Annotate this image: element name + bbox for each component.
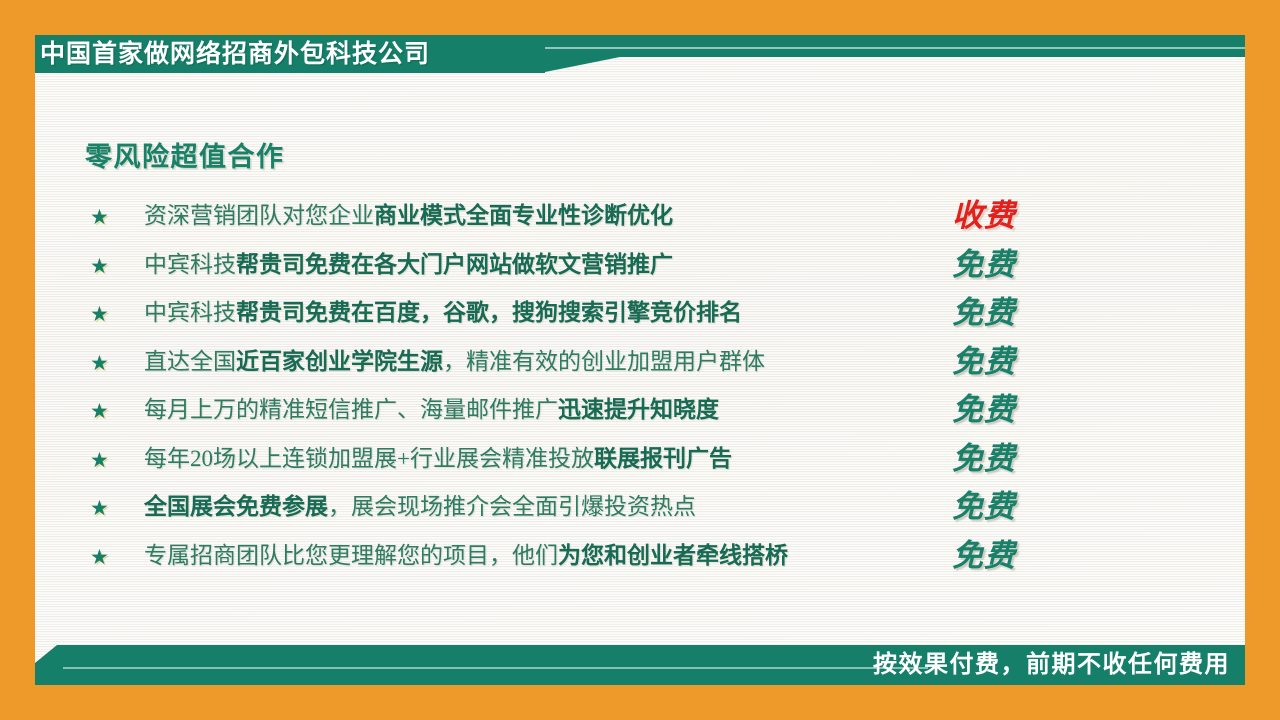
benefit-text-highlight: 近百家创业学院生源 — [236, 349, 443, 374]
benefit-text: 每年20场以上连锁加盟展+行业展会精准投放联展报刊广告 — [144, 442, 732, 476]
star-icon: ★ — [90, 351, 109, 377]
footer-text: 按效果付费，前期不收任何费用 — [873, 650, 1230, 680]
star-icon: ★ — [90, 496, 109, 522]
benefit-text: 全国展会免费参展，展会现场推介会全面引爆投资热点 — [144, 490, 696, 524]
star-icon: ★ — [90, 205, 109, 231]
star-icon: ★ — [90, 399, 109, 425]
benefit-text: 直达全国近百家创业学院生源，精准有效的创业加盟用户群体 — [144, 345, 765, 379]
benefit-text-plain: 每年20场以上连锁加盟展+行业展会精准投放 — [144, 446, 594, 471]
benefit-text-plain-tail: ，展会现场推介会全面引爆投资热点 — [328, 494, 696, 519]
benefit-row: ★直达全国近百家创业学院生源，精准有效的创业加盟用户群体免费 — [90, 343, 1090, 392]
fee-badge: 收费 — [952, 193, 1082, 239]
star-icon: ★ — [90, 448, 109, 474]
benefit-text-plain: 每月上万的精准短信推广、海量邮件推广 — [144, 397, 558, 422]
header-title: 中国首家做网络招商外包科技公司 — [40, 39, 430, 69]
benefit-row: ★每月上万的精准短信推广、海量邮件推广迅速提升知晓度免费 — [90, 391, 1090, 440]
benefit-row: ★全国展会免费参展，展会现场推介会全面引爆投资热点免费 — [90, 488, 1090, 537]
benefit-text: 资深营销团队对您企业商业模式全面专业性诊断优化 — [144, 199, 673, 233]
fee-badge: 免费 — [952, 533, 1082, 579]
benefit-text-highlight: 全国展会免费参展 — [144, 494, 328, 519]
fee-badge: 免费 — [952, 387, 1082, 433]
benefit-text-plain: 中宾科技 — [144, 300, 236, 325]
fee-badge: 免费 — [952, 242, 1082, 288]
slide-canvas: 中国首家做网络招商外包科技公司 零风险超值合作 ★资深营销团队对您企业商业模式全… — [0, 0, 1280, 720]
benefit-text-highlight: 帮贵司免费在百度，谷歌，搜狗搜索引擎竞价排名 — [236, 300, 742, 325]
benefit-text-plain-tail: ，精准有效的创业加盟用户群体 — [443, 349, 765, 374]
fee-badge: 免费 — [952, 484, 1082, 530]
benefit-text-highlight: 为您和创业者牵线搭桥 — [558, 543, 788, 568]
benefit-text: 专属招商团队比您更理解您的项目，他们为您和创业者牵线搭桥 — [144, 539, 788, 573]
benefit-text: 每月上万的精准短信推广、海量邮件推广迅速提升知晓度 — [144, 393, 719, 427]
fee-badge: 免费 — [952, 436, 1082, 482]
benefit-text-highlight: 商业模式全面专业性诊断优化 — [374, 203, 673, 228]
star-icon: ★ — [90, 254, 109, 280]
benefit-row: ★资深营销团队对您企业商业模式全面专业性诊断优化收费 — [90, 197, 1090, 246]
benefit-text-highlight: 迅速提升知晓度 — [558, 397, 719, 422]
benefit-text-plain: 专属招商团队比您更理解您的项目，他们 — [144, 543, 558, 568]
benefit-list: ★资深营销团队对您企业商业模式全面专业性诊断优化收费★中宾科技帮贵司免费在各大门… — [90, 197, 1090, 585]
star-icon: ★ — [90, 545, 109, 571]
benefit-text-plain: 中宾科技 — [144, 252, 236, 277]
benefit-text-plain: 资深营销团队对您企业 — [144, 203, 374, 228]
star-icon: ★ — [90, 302, 109, 328]
benefit-row: ★中宾科技帮贵司免费在各大门户网站做软文营销推广免费 — [90, 246, 1090, 295]
section-title: 零风险超值合作 — [85, 135, 285, 174]
benefit-text-highlight: 帮贵司免费在各大门户网站做软文营销推广 — [236, 252, 673, 277]
fee-badge: 免费 — [952, 339, 1082, 385]
fee-badge: 免费 — [952, 290, 1082, 336]
benefit-row: ★中宾科技帮贵司免费在百度，谷歌，搜狗搜索引擎竞价排名免费 — [90, 294, 1090, 343]
benefit-text: 中宾科技帮贵司免费在百度，谷歌，搜狗搜索引擎竞价排名 — [144, 296, 742, 330]
benefit-text-highlight: 联展报刊广告 — [594, 446, 732, 471]
benefit-text: 中宾科技帮贵司免费在各大门户网站做软文营销推广 — [144, 248, 673, 282]
benefit-row: ★每年20场以上连锁加盟展+行业展会精准投放联展报刊广告免费 — [90, 440, 1090, 489]
benefit-text-plain: 直达全国 — [144, 349, 236, 374]
benefit-row: ★专属招商团队比您更理解您的项目，他们为您和创业者牵线搭桥免费 — [90, 537, 1090, 586]
